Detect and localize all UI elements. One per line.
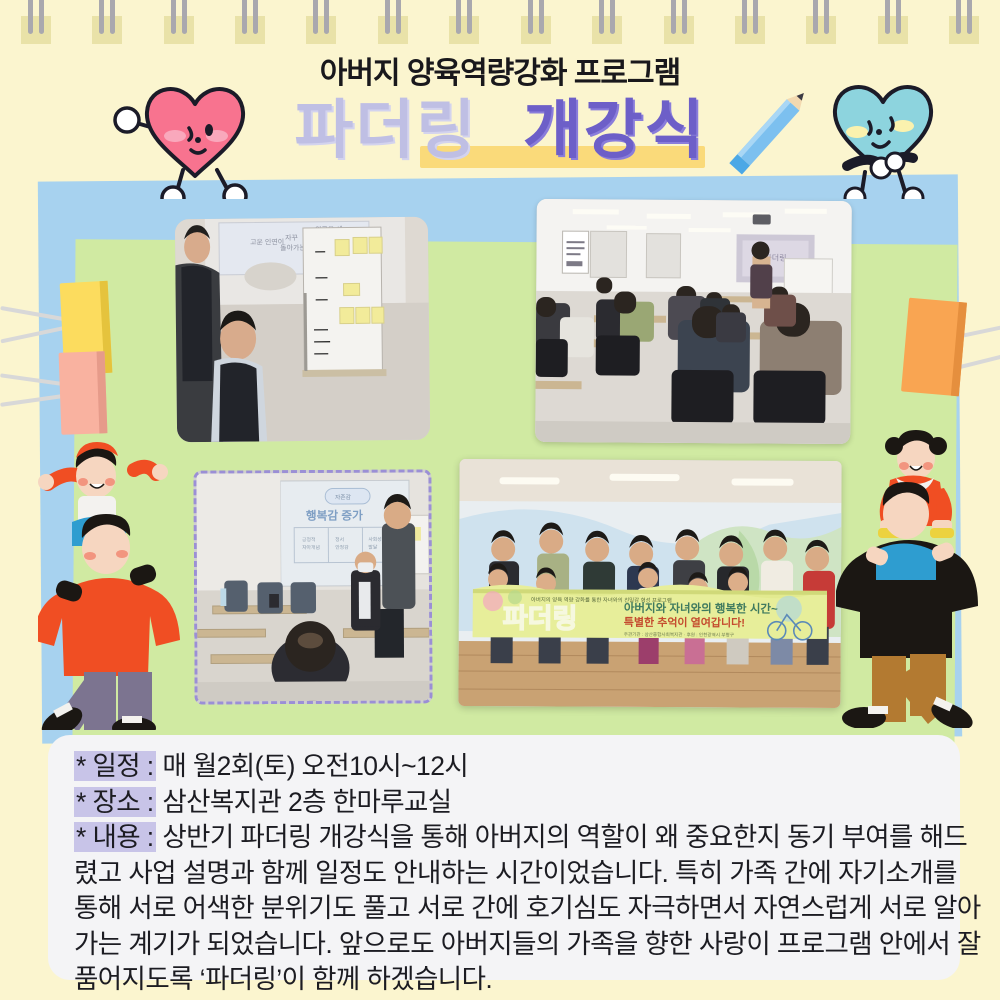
spiral-ring-wire — [28, 0, 33, 34]
spiral-ring — [806, 0, 836, 44]
title-part-padering: 파더링 — [294, 94, 477, 166]
spiral-ring — [664, 0, 694, 44]
title-part-opening: 개강식 — [523, 94, 706, 166]
spiral-ring — [92, 0, 122, 44]
schedule-line: * 일정 : 매 월2회(토) 오전10시~12시 — [74, 749, 938, 785]
place-line: * 장소 : 삼산복지관 2층 한마루교실 — [74, 785, 938, 821]
spiral-ring — [592, 0, 622, 44]
info-text-card: * 일정 : 매 월2회(토) 오전10시~12시 * 장소 : 삼산복지관 2… — [48, 735, 960, 980]
svg-text:돌아가는: 돌아가는 — [280, 243, 306, 252]
svg-text:자존감: 자존감 — [335, 493, 352, 501]
schedule-value: 매 월2회(토) 오전10시~12시 — [162, 751, 468, 781]
spiral-ring-wire — [956, 0, 961, 34]
spiral-ring — [164, 0, 194, 44]
spiral-ring-wire — [539, 0, 544, 34]
spiral-ring-wire — [682, 0, 687, 34]
photo-classroom-lecture: 파더링 — [535, 199, 852, 444]
spiral-ring-wire — [813, 0, 818, 34]
spiral-ring — [449, 0, 479, 44]
schedule-label: * 일정 : — [74, 751, 156, 781]
spiral-ring — [735, 0, 765, 44]
spiral-ring-wire — [824, 0, 829, 34]
content-line-4: 가는 계기가 되었습니다. 앞으로도 아버지들의 가족을 향한 사랑이 프로그램… — [74, 927, 938, 963]
spiral-ring-wire — [39, 0, 44, 34]
spiral-ring-wire — [253, 0, 258, 34]
spiral-ring-wire — [456, 0, 461, 34]
spiral-ring — [878, 0, 908, 44]
svg-text:행복감 증가: 행복감 증가 — [306, 509, 363, 523]
banner-subline: 특별한 추억이 열여갑니다! — [624, 615, 745, 630]
spiral-ring-wire — [528, 0, 533, 34]
spiral-ring-wire — [99, 0, 104, 34]
spiral-ring-wire — [967, 0, 972, 34]
photo-father-and-son-whiteboard: 고운 인연이 자꾸 돌아가는 외로운 새 — [175, 217, 430, 443]
spiral-ring-wire — [110, 0, 115, 34]
place-value: 삼산복지관 2층 한마루교실 — [162, 787, 451, 817]
content-line-1: * 내용 : 상반기 파더링 개강식을 통해 아버지의 역할이 왜 중요한지 동… — [74, 820, 938, 856]
spiral-ring — [521, 0, 551, 44]
poster-page: 아버지 양육역량강화 프로그램 파더링 개강식 — [0, 0, 1000, 1000]
father-carrying-child-orange-illustration — [38, 440, 198, 730]
sticky-note-orange — [901, 298, 967, 397]
spiral-ring — [21, 0, 51, 44]
spiral-ring-wire — [599, 0, 604, 34]
spiral-ring-wire — [742, 0, 747, 34]
spiral-ring-wire — [671, 0, 676, 34]
banner-logo-text: 파더링 — [503, 603, 578, 633]
spiral-ring — [949, 0, 979, 44]
banner-headline: 아버지와 자녀와의 행복한 시간~ — [624, 601, 778, 616]
content-line-5: 품어지도록 ‘파더링’이 함께 하겠습니다. — [74, 962, 938, 998]
place-label: * 장소 : — [74, 787, 156, 817]
spiral-ring-wire — [753, 0, 758, 34]
spiral-ring-wire — [182, 0, 187, 34]
spiral-ring-wire — [171, 0, 176, 34]
father-carrying-child-black-illustration — [836, 428, 986, 728]
photo-group-with-banner: 아버지의 양육 역량 강화를 통한 자녀와의 친밀감 형성 프로그램 파더링 아… — [458, 459, 841, 708]
sticky-note-pink — [59, 351, 108, 435]
svg-text:자꾸: 자꾸 — [285, 233, 299, 242]
spiral-ring — [235, 0, 265, 44]
spiral-ring-wire — [324, 0, 329, 34]
content-label: * 내용 : — [74, 822, 156, 852]
spiral-ring-wire — [242, 0, 247, 34]
blue-heart-character — [795, 74, 985, 199]
content-line-2: 렸고 사업 설명과 함께 일정도 안내하는 시간이었습니다. 특히 가족 간에 … — [74, 856, 938, 892]
content-text-1: 상반기 파더링 개강식을 통해 아버지의 역할이 왜 중요한지 동기 부여를 해… — [162, 822, 967, 852]
spiral-ring-wire — [385, 0, 390, 34]
spiral-ring — [378, 0, 408, 44]
spiral-ring — [306, 0, 336, 44]
spiral-ring-wire — [610, 0, 615, 34]
spiral-ring-wire — [313, 0, 318, 34]
spiral-ring-wire — [396, 0, 401, 34]
photo-presentation-screen: 자존감 행복감 증가 긍정적자아개념 정서안정감 사회성발달 — [193, 469, 432, 704]
spiral-ring-wire — [467, 0, 472, 34]
spiral-ring-wire — [885, 0, 890, 34]
spiral-ring-wire — [896, 0, 901, 34]
content-line-3: 통해 서로 어색한 분위기도 풀고 서로 간에 호기심도 자극하면서 자연스럽게… — [74, 891, 938, 927]
pink-heart-character — [105, 74, 295, 199]
